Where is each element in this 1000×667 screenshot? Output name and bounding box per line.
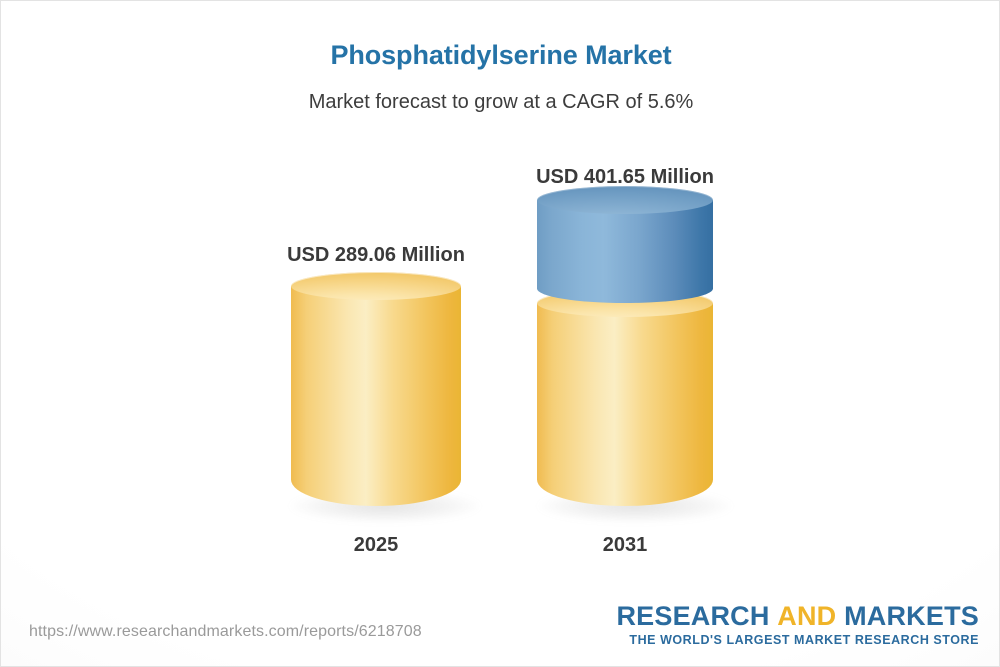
logo-word-markets: MARKETS xyxy=(844,601,979,631)
cylinder-body xyxy=(537,200,713,303)
logo-wordmark: RESEARCH AND MARKETS xyxy=(616,603,979,630)
logo-word-and: AND xyxy=(777,601,836,631)
category-label-2031: 2031 xyxy=(445,534,805,557)
value-label-2025: USD 289.06 Million xyxy=(196,244,556,267)
cylinder-body xyxy=(537,303,713,506)
bar-segment-base-2031 xyxy=(537,303,713,506)
bar-segment-growth-2031 xyxy=(537,200,713,303)
cylinder-body xyxy=(291,286,461,506)
logo-tagline: THE WORLD'S LARGEST MARKET RESEARCH STOR… xyxy=(616,634,979,647)
cylinder-top-cap xyxy=(537,186,713,214)
chart-canvas: Phosphatidylserine Market Market forecas… xyxy=(0,0,1000,667)
bar-2025[interactable] xyxy=(291,286,461,506)
logo-word-research: RESEARCH xyxy=(616,601,769,631)
bar-2031[interactable] xyxy=(537,200,713,506)
bar-segment-base-2025 xyxy=(291,286,461,506)
cylinder-top-cap xyxy=(291,272,461,300)
chart-plot-area: USD 289.06 Million USD 401.65 Million xyxy=(1,1,1000,601)
report-url[interactable]: https://www.researchandmarkets.com/repor… xyxy=(29,623,422,641)
research-and-markets-logo[interactable]: RESEARCH AND MARKETS THE WORLD'S LARGEST… xyxy=(616,603,979,647)
